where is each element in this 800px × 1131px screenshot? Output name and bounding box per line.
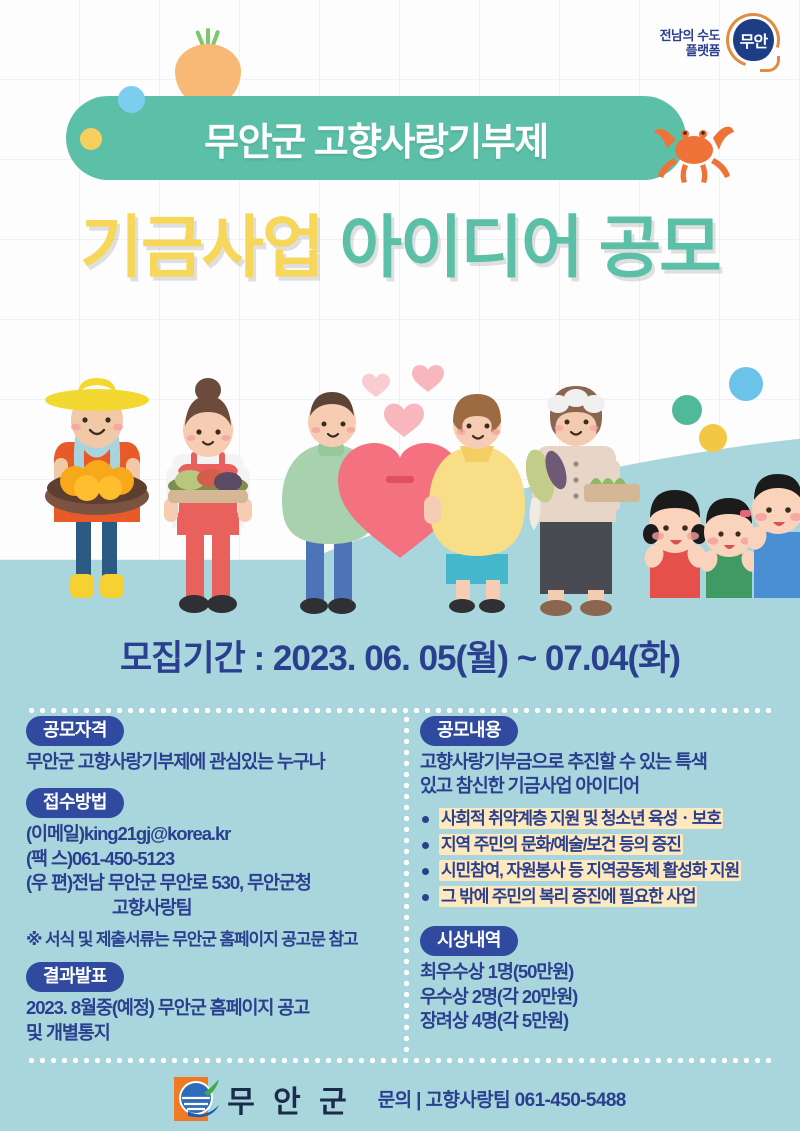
young-woman-with-vegetable-box xyxy=(164,378,252,613)
contents-bullet-list: 사회적 취약계층 지원 및 청소년 육성ㆍ보호 지역 주민의 문화/예술/보건 … xyxy=(420,808,780,908)
eligibility-body: 무안군 고향사랑기부제에 관심있는 누구나 xyxy=(26,750,398,775)
bullet-text-1: 사회적 취약계층 지원 및 청소년 육성ㆍ보호 xyxy=(439,808,723,829)
contents-section: 공모내용 고향사랑기부금으로 추진할 수 있는 특색 있고 참신한 기금사업 아… xyxy=(420,716,780,908)
divider-bottom xyxy=(26,1058,774,1063)
muan-brand-emblem-icon: 무안 xyxy=(724,12,782,74)
eligibility-badge: 공모자격 xyxy=(26,716,124,746)
list-item: 지역 주민의 문화/예술/보건 등의 증진 xyxy=(420,834,780,856)
right-info-column: 공모내용 고향사랑기부금으로 추진할 수 있는 특색 있고 참신한 기금사업 아… xyxy=(420,716,780,1034)
woman-holding-heart xyxy=(424,394,525,613)
list-item: 사회적 취약계층 지원 및 청소년 육성ㆍ보호 xyxy=(420,808,780,830)
left-info-column: 공모자격 무안군 고향사랑기부제에 관심있는 누구나 접수방법 (이메일)kin… xyxy=(26,716,398,1045)
county-emblem-icon xyxy=(174,1077,220,1121)
crab-icon xyxy=(650,110,734,184)
heart-slot xyxy=(386,476,414,483)
award-row-1: 최우수상 1명(50만원) xyxy=(420,960,780,985)
child-girl-red xyxy=(641,490,710,598)
brand-tagline: 전남의 수도 플랫폼 xyxy=(660,29,720,57)
bullet-text-2: 지역 주민의 문화/예술/보건 등의 증진 xyxy=(439,834,683,855)
emblem-blob: 무안 xyxy=(733,19,774,61)
submission-mail: (우 편)전남 무안군 무안로 530, 무안군청 xyxy=(26,871,398,896)
headline-part1: 기금사업 xyxy=(80,210,322,286)
brand-tagline-line2: 플랫폼 xyxy=(686,44,720,57)
divider-vertical xyxy=(404,714,409,1058)
grandmother-with-vegetables xyxy=(521,386,640,616)
result-line-2: 및 개별통지 xyxy=(26,1021,398,1046)
title-pill-text: 무안군 고향사랑기부제 xyxy=(204,111,548,166)
title-pill: 무안군 고향사랑기부제 xyxy=(66,96,686,180)
farmer-with-fruit-basket xyxy=(45,378,149,598)
submission-section: 접수방법 (이메일)king21gj@korea.kr (팩 스)061-450… xyxy=(26,788,398,950)
brand-tagline-line1: 전남의 수도 xyxy=(660,29,720,42)
award-row-3: 장려상 4명(각 5만원) xyxy=(420,1009,780,1034)
list-item: 그 밖에 주민의 복리 증진에 필요한 사업 xyxy=(420,886,780,908)
confetti-yellow xyxy=(699,424,727,452)
award-row-2: 우수상 2명(각 20만원) xyxy=(420,985,780,1010)
submission-fax: (팩 스)061-450-5123 xyxy=(26,847,398,872)
footer: 무 안 군 문의 | 고향사랑팀 061-450-5488 N 호남 매일 뉴스 xyxy=(0,1066,800,1131)
submission-email: (이메일)king21gj@korea.kr xyxy=(26,822,398,847)
eligibility-section: 공모자격 무안군 고향사랑기부제에 관심있는 누구나 xyxy=(26,716,398,774)
confetti-blue xyxy=(729,367,763,401)
headline-part2: 아이디어 공모 xyxy=(339,210,719,286)
emblem-label: 무안 xyxy=(740,28,767,52)
contact-info: 문의 | 고향사랑팀 061-450-5488 xyxy=(378,1085,626,1112)
yellow-dot-icon xyxy=(80,128,102,150)
blue-dot-icon xyxy=(118,86,145,113)
awards-section: 시상내역 최우수상 1명(50만원) 우수상 2명(각 20만원) 장려상 4명… xyxy=(420,926,780,1033)
divider-top xyxy=(26,708,774,713)
contents-badge: 공모내용 xyxy=(420,716,518,746)
contents-intro-1: 고향사랑기부금으로 추진할 수 있는 특색 xyxy=(420,750,780,775)
result-section: 결과발표 2023. 8월중(예정) 무안군 홈페이지 공고 및 개별통지 xyxy=(26,962,398,1045)
list-item: 시민참여, 자원봉사 등 지역공동체 활성화 지원 xyxy=(420,860,780,882)
brand-logo: 전남의 수도 플랫폼 무안 xyxy=(660,12,782,74)
submission-team: 고향사랑팀 xyxy=(26,896,398,921)
floating-hearts-icon xyxy=(362,365,444,437)
awards-badge: 시상내역 xyxy=(420,926,518,956)
submission-note: ※ 서식 및 제출서류는 무안군 홈페이지 공고문 참고 xyxy=(26,925,398,950)
poster-root: 전남의 수도 플랫폼 무안 무안군 고향사랑기부제 xyxy=(0,0,800,1131)
recruitment-period: 모집기간 : 2023. 06. 05(월) ~ 07.04(화) xyxy=(0,630,800,681)
contents-intro-2: 있고 참신한 기금사업 아이디어 xyxy=(420,774,780,799)
submission-badge: 접수방법 xyxy=(26,788,124,818)
people-illustration xyxy=(0,318,800,628)
child-boy-blue xyxy=(744,474,800,598)
bullet-text-3: 시민참여, 자원봉사 등 지역공동체 활성화 지원 xyxy=(439,860,741,881)
result-badge: 결과발표 xyxy=(26,962,124,992)
result-line-1: 2023. 8월중(예정) 무안군 홈페이지 공고 xyxy=(26,996,398,1021)
muan-county-logo: 무 안 군 xyxy=(174,1077,351,1121)
onion-icon xyxy=(175,30,241,106)
page-title: 기금사업 아이디어 공모 xyxy=(0,192,800,291)
county-name: 무 안 군 xyxy=(227,1077,351,1121)
bullet-text-4: 그 밖에 주민의 복리 증진에 필요한 사업 xyxy=(439,886,697,907)
confetti-green xyxy=(672,395,702,425)
